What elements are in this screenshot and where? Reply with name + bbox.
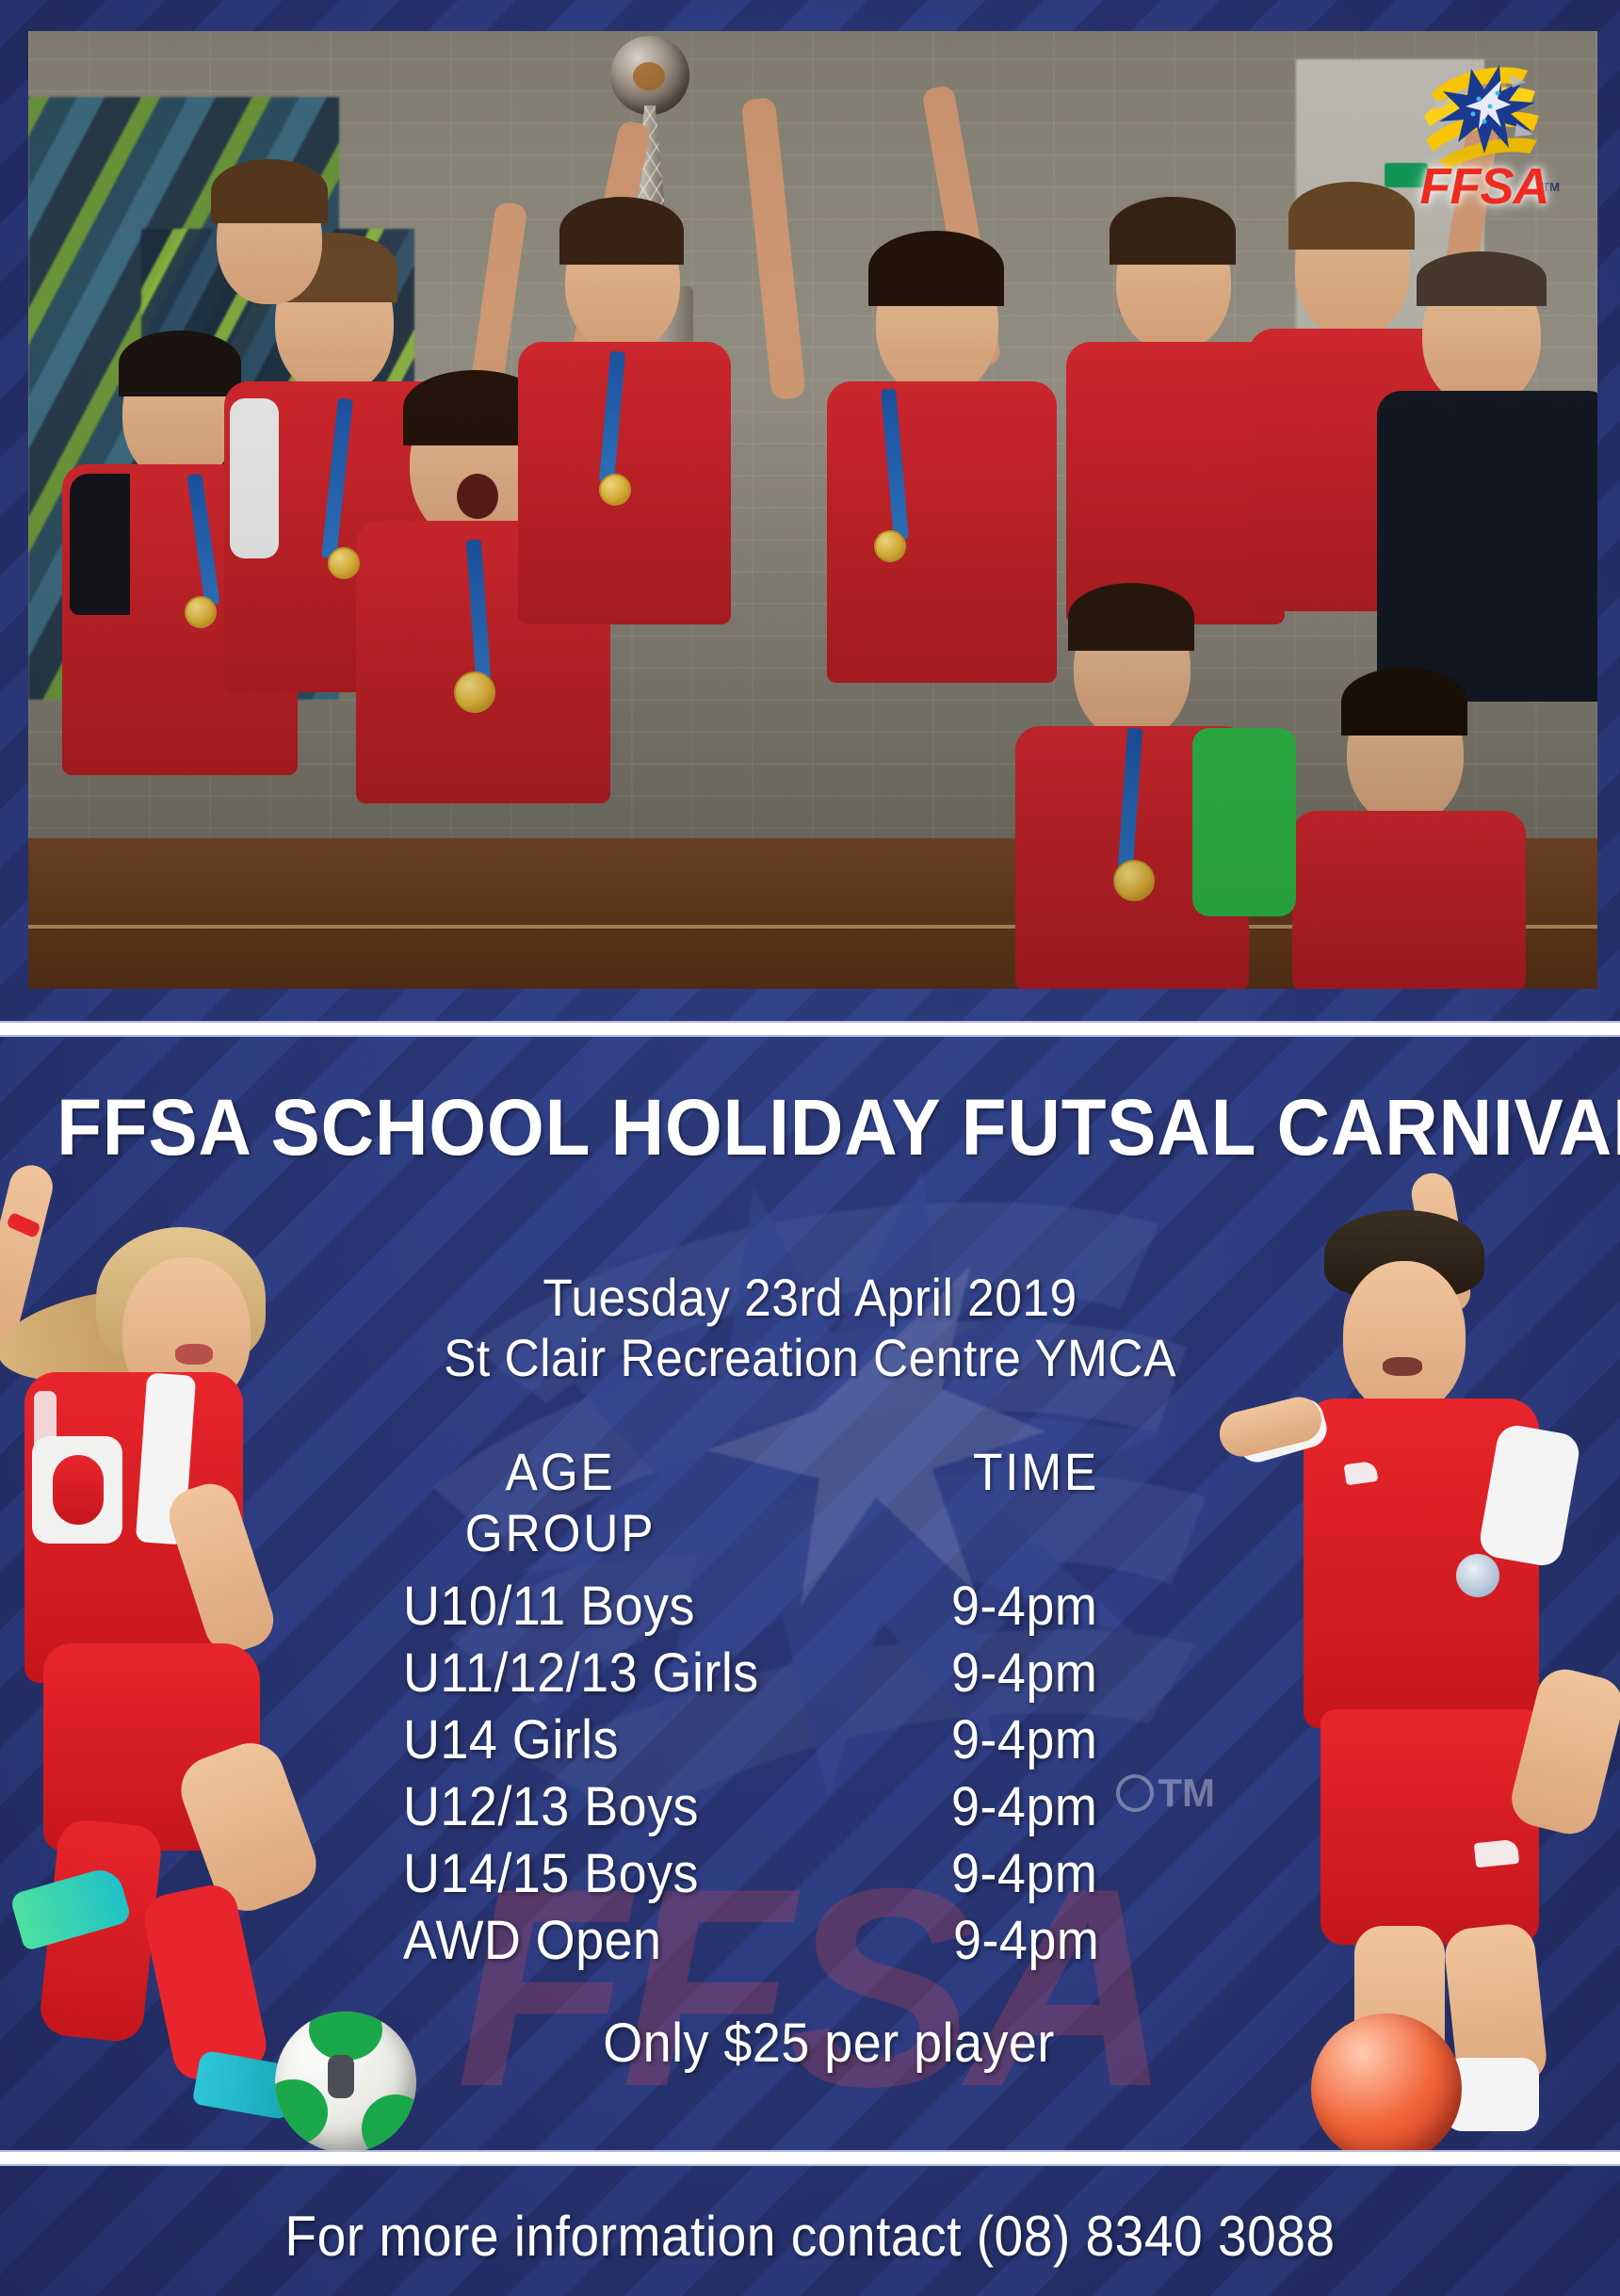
age-group-value: U12/13 Boys [403, 1775, 699, 1838]
divider-top [0, 1023, 1620, 1035]
schedule-list: U10/11 Boys 9-4pm U11/12/13 Girls 9-4pm … [0, 1575, 1620, 1976]
schedule-row: U14/15 Boys 9-4pm [0, 1842, 1620, 1909]
photo-content [28, 31, 1597, 989]
time-value: 9-4pm [951, 1842, 1153, 1905]
team-celebration-photo: TM FFSA [28, 31, 1597, 989]
time-value: 9-4pm [951, 1775, 1153, 1838]
age-group-value: U10/11 Boys [403, 1575, 695, 1638]
time-value: 9-4pm [951, 1708, 1153, 1771]
ffsa-logo: TM FFSA [1400, 40, 1569, 229]
price-note: Only $25 per player [435, 2012, 1223, 2075]
event-date: Tuesday 23rd April 2019 [65, 1269, 1555, 1326]
poster-root: TM FFSA TM FFSA [0, 0, 1620, 2296]
jersey-number-inner [53, 1455, 104, 1525]
photo-tone-overlay [28, 31, 1597, 989]
schedule-row: U11/12/13 Girls 9-4pm [0, 1641, 1620, 1708]
column-header-age-group: AGE GROUP [417, 1441, 704, 1563]
contact-line: For more information contact (08) 8340 3… [65, 2204, 1555, 2269]
time-value: 9-4pm [951, 1641, 1153, 1705]
time-value: 9-4pm [953, 1909, 1155, 1972]
time-value: 9-4pm [951, 1575, 1153, 1638]
page-title: FFSA SCHOOL HOLIDAY FUTSAL CARNIVAL [57, 1088, 1563, 1167]
age-group-value: U14/15 Boys [403, 1842, 699, 1905]
schedule-row: U14 Girls 9-4pm [0, 1708, 1620, 1775]
ffsa-wordmark: FFSA [1400, 157, 1569, 216]
age-group-value: U11/12/13 Girls [403, 1641, 759, 1705]
schedule-row: AWD Open 9-4pm [0, 1909, 1620, 1976]
divider-bottom [0, 2152, 1620, 2164]
schedule-row: U12/13 Boys 9-4pm [0, 1775, 1620, 1842]
futsal-ball-orange [1311, 2013, 1462, 2164]
schedule-row: U10/11 Boys 9-4pm [0, 1575, 1620, 1641]
event-venue: St Clair Recreation Centre YMCA [65, 1330, 1555, 1386]
column-header-time: TIME [932, 1441, 1141, 1502]
age-group-value: AWD Open [403, 1909, 662, 1972]
futsal-ball-white [275, 2012, 416, 2153]
age-group-value: U14 Girls [403, 1708, 619, 1771]
